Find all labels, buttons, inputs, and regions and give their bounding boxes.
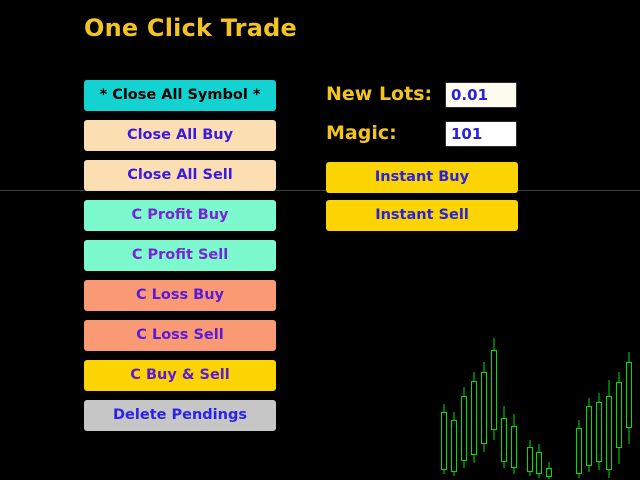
action-button-c-profit-buy[interactable]: C Profit Buy	[84, 200, 276, 231]
action-button-close-all-buy[interactable]: Close All Buy	[84, 120, 276, 151]
candlestick	[491, 338, 497, 440]
field-label-magic: Magic:	[326, 122, 397, 144]
candlestick-body	[527, 447, 533, 472]
action-button-close-all-symbol[interactable]: * Close All Symbol *	[84, 80, 276, 111]
candlestick	[441, 404, 447, 474]
action-button-c-loss-sell[interactable]: C Loss Sell	[84, 320, 276, 351]
candlestick-body	[441, 412, 447, 470]
candlestick	[461, 387, 467, 468]
candlestick	[616, 372, 622, 464]
action-button-instant-sell[interactable]: Instant Sell	[326, 200, 518, 231]
action-button-c-buy-sell[interactable]: C Buy & Sell	[84, 360, 276, 391]
candlestick	[626, 352, 632, 444]
input-magic[interactable]	[445, 121, 517, 147]
one-click-trade-panel: One Click Trade * Close All Symbol *Clos…	[0, 0, 640, 480]
candlestick-body	[606, 396, 612, 470]
candlestick-body	[481, 372, 487, 444]
candlestick-body	[451, 420, 457, 472]
candlestick	[481, 362, 487, 452]
candlestick	[586, 398, 592, 472]
candlestick-body	[616, 382, 622, 448]
candlestick	[536, 444, 542, 478]
candlestick-body	[461, 396, 467, 461]
candlestick-body	[536, 452, 542, 474]
candlestick-body	[501, 418, 507, 462]
action-button-c-profit-sell[interactable]: C Profit Sell	[84, 240, 276, 271]
candlestick	[471, 372, 477, 463]
candlestick	[501, 406, 507, 468]
candlestick	[451, 412, 457, 476]
candlestick	[527, 440, 533, 476]
candlestick	[606, 380, 612, 478]
candlestick-body	[626, 362, 632, 428]
candlestick-body	[576, 428, 582, 474]
action-button-c-loss-buy[interactable]: C Loss Buy	[84, 280, 276, 311]
candlestick-body	[596, 402, 602, 462]
candlestick-body	[491, 350, 497, 430]
action-button-delete-pendings[interactable]: Delete Pendings	[84, 400, 276, 431]
candlestick-body	[586, 406, 592, 466]
page-title: One Click Trade	[84, 14, 297, 42]
candlestick-body	[546, 468, 552, 477]
candlestick	[576, 420, 582, 478]
input-new-lots[interactable]	[445, 82, 517, 108]
candlestick-body	[511, 426, 517, 468]
candlestick	[596, 393, 602, 470]
candlestick-body	[471, 381, 477, 455]
candlestick	[546, 462, 552, 479]
action-button-instant-buy[interactable]: Instant Buy	[326, 162, 518, 193]
candlestick	[511, 414, 517, 474]
field-label-new-lots: New Lots:	[326, 83, 432, 105]
action-button-close-all-sell[interactable]: Close All Sell	[84, 160, 276, 191]
